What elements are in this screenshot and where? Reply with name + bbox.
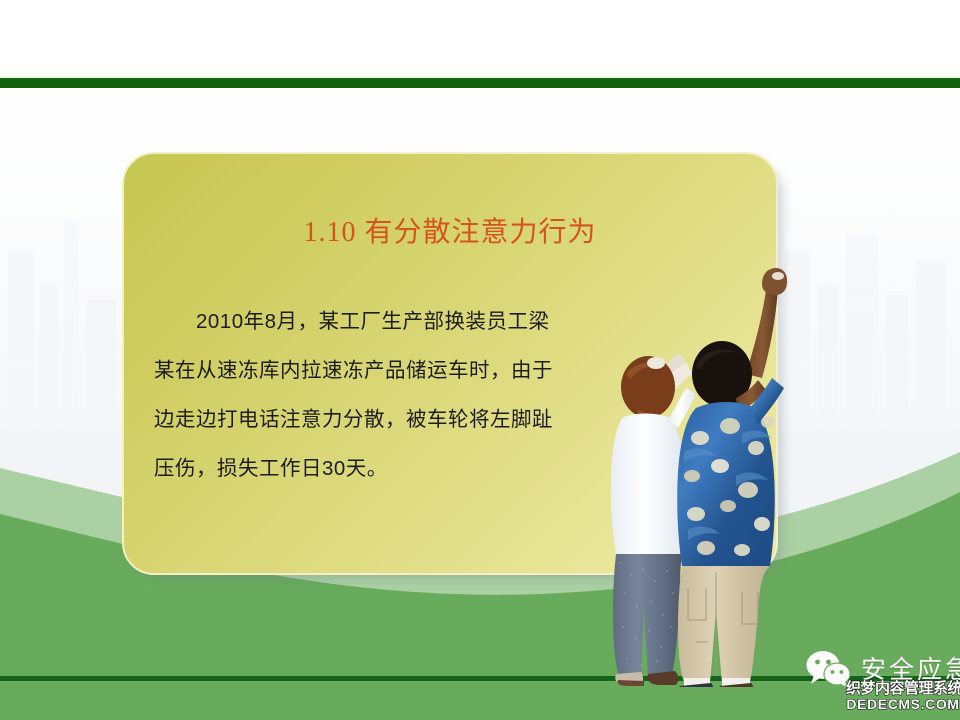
paragraph-line-4: 压伤，损失工作日30天。: [154, 444, 624, 493]
wechat-icon: [806, 648, 852, 688]
case-description-paragraph: 2010年8月，某工厂生产部换装员工梁 某在从速冻库内拉速冻产品储运车时，由于 …: [154, 297, 624, 493]
presentation-slide: 1.10 有分散注意力行为 2010年8月，某工厂生产部换装员工梁 某在从速冻库…: [0, 0, 960, 720]
people-photo: [596, 262, 816, 687]
brand-label: 安全应急: [861, 650, 960, 686]
paragraph-line-1: 2010年8月，某工厂生产部换装员工梁: [154, 297, 624, 346]
child-boy-figure: [677, 268, 787, 687]
paragraph-line-3: 边走边打电话注意力分散，被车轮将左脚趾: [154, 395, 624, 444]
paragraph-line-2: 某在从速冻库内拉速冻产品储运车时，由于: [154, 346, 624, 395]
wechat-brand-badge: 安全应急: [806, 648, 960, 688]
slide-title: 1.10 有分散注意力行为: [122, 210, 778, 250]
top-green-rule: [0, 78, 960, 88]
